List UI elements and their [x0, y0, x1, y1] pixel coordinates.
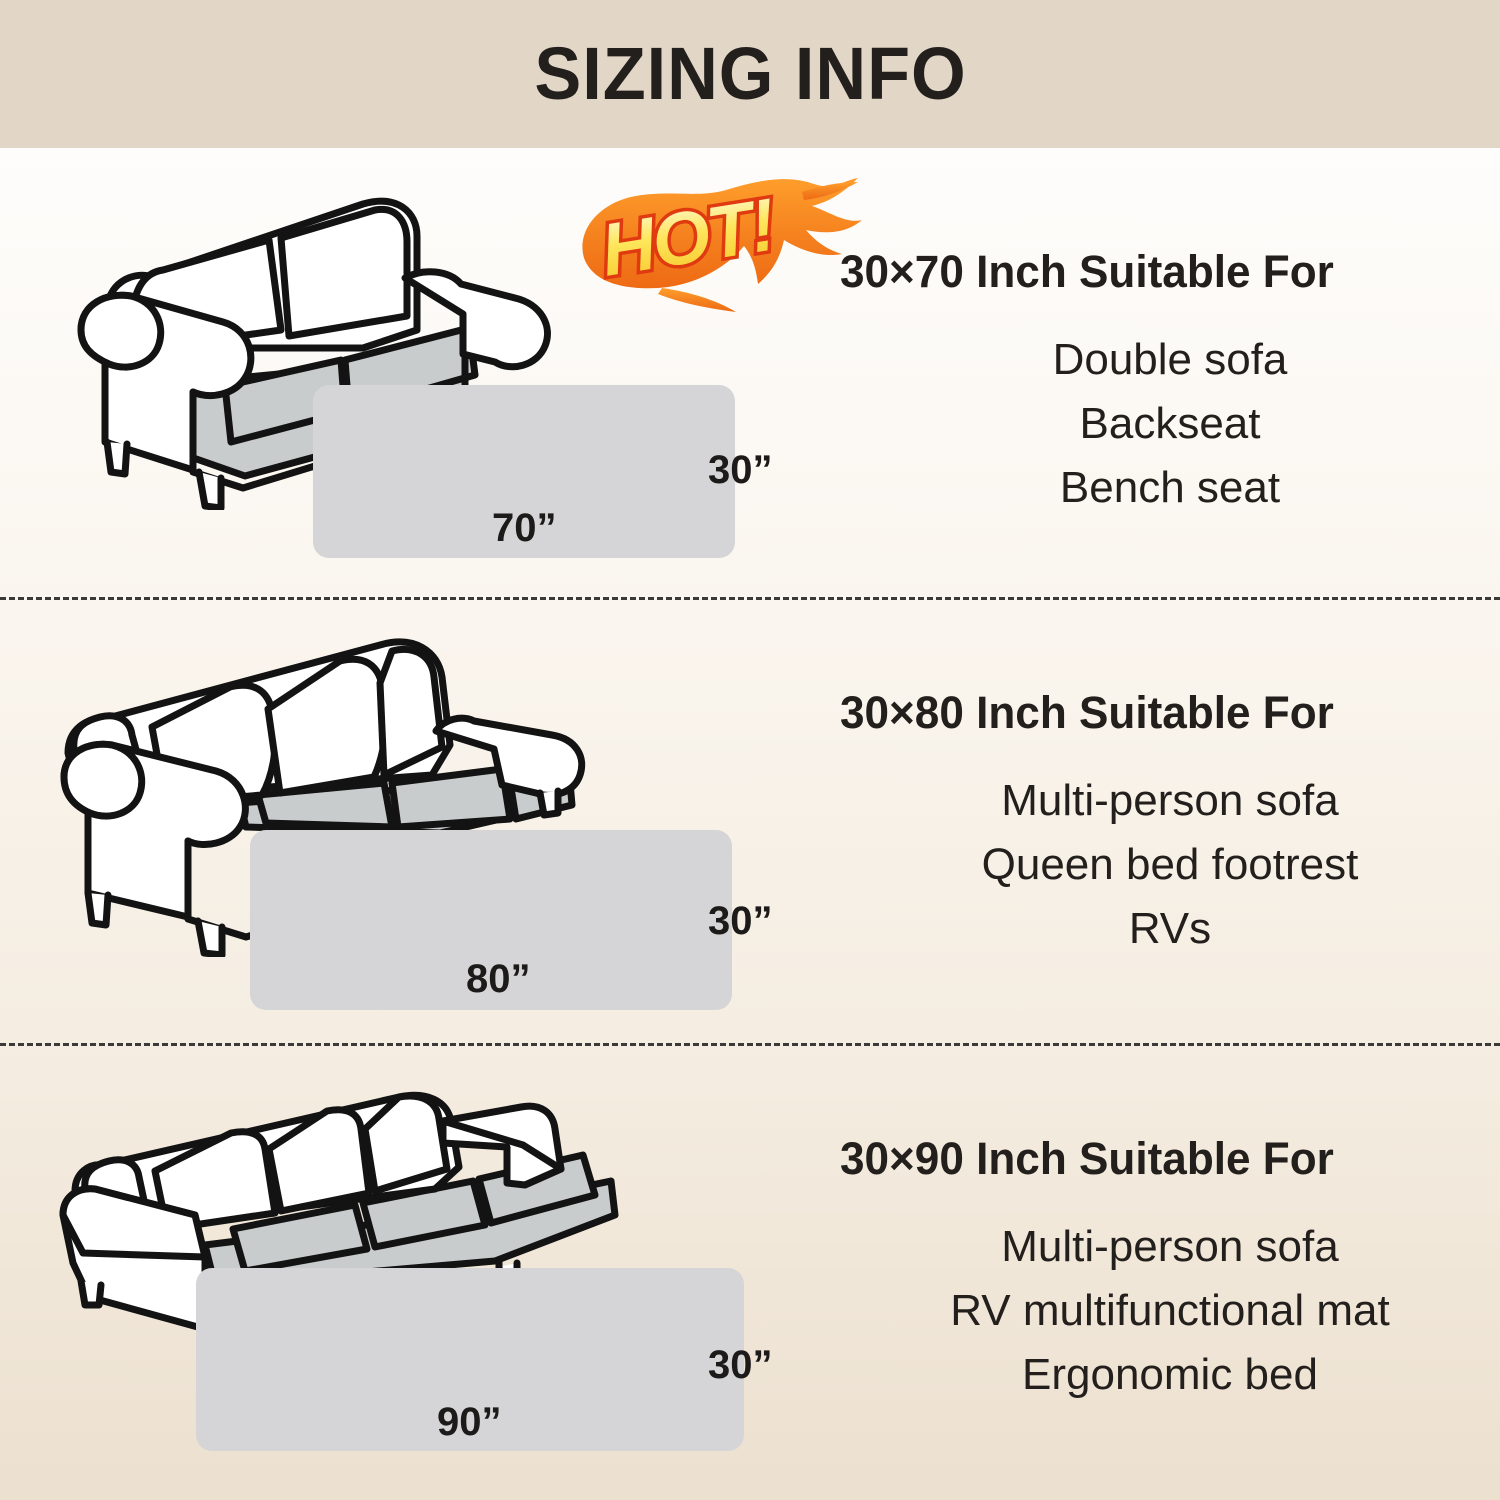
size-text-column-30x80: 30×80 Inch Suitable For Multi-person sof… — [840, 687, 1500, 961]
use-item: Multi-person sofa — [840, 1215, 1500, 1279]
use-list-30x80: Multi-person sofa Queen bed footrest RVs — [840, 769, 1500, 961]
size-section-30x80: 80” 30” 30×80 Inch Suitable For Multi-pe… — [0, 599, 1500, 1043]
dimension-width-label-90: 90” — [437, 1400, 502, 1445]
use-item: Queen bed footrest — [840, 833, 1500, 897]
page-title: SIZING INFO — [534, 37, 966, 111]
dimension-width-label-80: 80” — [466, 957, 531, 1002]
hot-badge: HOT! — [566, 172, 878, 312]
use-item: Bench seat — [840, 456, 1500, 520]
header-band: SIZING INFO — [0, 0, 1500, 148]
size-section-30x90: 90” 30” 30×90 Inch Suitable For Multi-pe… — [0, 1045, 1500, 1500]
size-heading-30x90: 30×90 Inch Suitable For — [840, 1133, 1487, 1185]
sizing-info-infographic: SIZING INFO — [0, 0, 1500, 1500]
dimension-height-label-30: 30” — [708, 899, 773, 944]
use-item: Multi-person sofa — [840, 769, 1500, 833]
dimension-width-label-70: 70” — [492, 506, 557, 551]
size-text-column-30x70: 30×70 Inch Suitable For Double sofa Back… — [840, 246, 1500, 520]
size-section-30x70: HOT! 70” 30” 30×70 Inch Suitable For Dou… — [0, 148, 1500, 597]
use-item: Backseat — [840, 392, 1500, 456]
use-item: RV multifunctional mat — [840, 1279, 1500, 1343]
use-item: RVs — [840, 897, 1500, 961]
dimension-height-label-30: 30” — [708, 1343, 773, 1388]
use-item: Ergonomic bed — [840, 1343, 1500, 1407]
hot-badge-label: HOT! — [596, 183, 781, 292]
use-list-30x90: Multi-person sofa RV multifunctional mat… — [840, 1215, 1500, 1407]
size-heading-30x80: 30×80 Inch Suitable For — [840, 687, 1487, 739]
use-list-30x70: Double sofa Backseat Bench seat — [840, 328, 1500, 520]
size-text-column-30x90: 30×90 Inch Suitable For Multi-person sof… — [840, 1133, 1500, 1407]
size-heading-30x70: 30×70 Inch Suitable For — [840, 246, 1487, 298]
dimension-height-label-30: 30” — [708, 448, 773, 493]
use-item: Double sofa — [840, 328, 1500, 392]
